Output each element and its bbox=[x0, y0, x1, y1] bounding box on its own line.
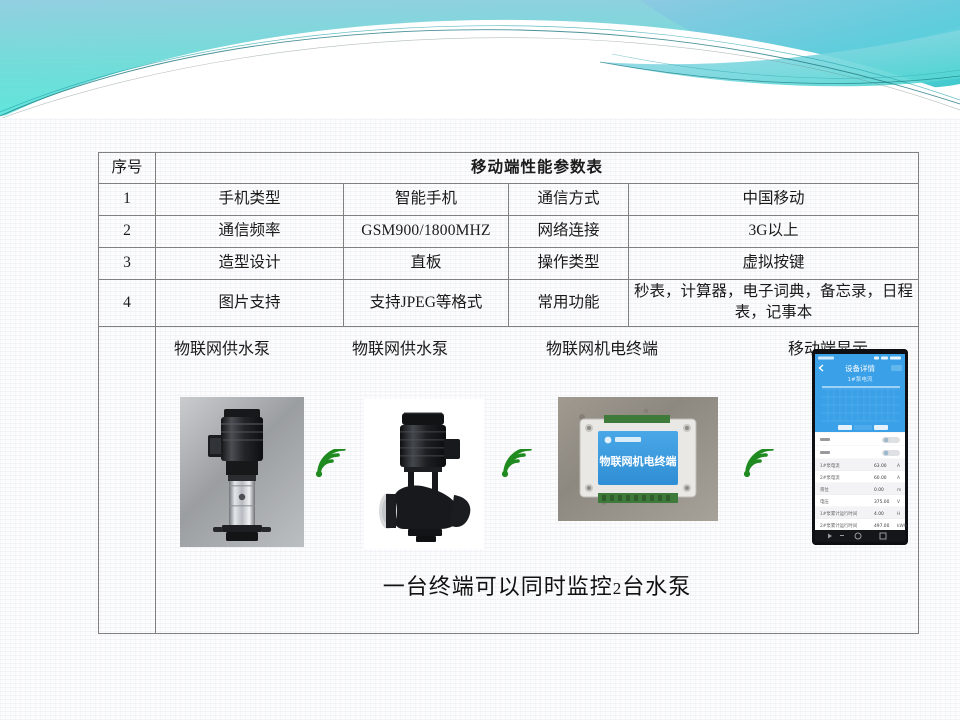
table-row: 4 图片支持 支持JPEG等格式 常用功能 秒表，计算器，电子词典，备忘录，日程… bbox=[99, 280, 919, 327]
svg-text:1#泵累计运行时间: 1#泵累计运行时间 bbox=[820, 510, 857, 517]
photo-vertical-pump bbox=[180, 397, 304, 547]
row-key-1: 手机类型 bbox=[156, 184, 344, 216]
illustration-spacer-cell bbox=[99, 327, 156, 634]
table-row: 2 通信频率 GSM900/1800MHZ 网络连接 3G以上 bbox=[99, 216, 919, 248]
row-value-1: 直板 bbox=[344, 248, 509, 280]
row-value-2: 中国移动 bbox=[629, 184, 919, 216]
svg-text:375.00: 375.00 bbox=[874, 499, 890, 505]
row-key-1: 通信频率 bbox=[156, 216, 344, 248]
caption-pump-2: 物联网供水泵 bbox=[352, 339, 448, 361]
row-key-2: 操作类型 bbox=[509, 248, 629, 280]
illustration-cell: 物联网供水泵 物联网供水泵 物联网机电终端 移动端显示 bbox=[156, 327, 919, 634]
row-key-1: 图片支持 bbox=[156, 280, 344, 327]
svg-text:2#泵累计运行时间: 2#泵累计运行时间 bbox=[820, 522, 857, 529]
phone-title-text: 设备详情 bbox=[845, 363, 875, 373]
header-index-label: 序号 bbox=[99, 153, 156, 184]
svg-text:V: V bbox=[897, 499, 900, 505]
svg-text:0.00: 0.00 bbox=[874, 487, 884, 493]
bottom-caption-number: 2 bbox=[613, 579, 623, 598]
row-key-1: 造型设计 bbox=[156, 248, 344, 280]
phone-chart-label-text: 1#泵电流 bbox=[847, 375, 872, 383]
back-icon bbox=[840, 535, 844, 536]
illustration-canvas: 物联网供水泵 物联网供水泵 物联网机电终端 移动端显示 bbox=[160, 329, 914, 631]
svg-text:4.00: 4.00 bbox=[874, 511, 884, 517]
row-value-2: 虚拟按键 bbox=[629, 248, 919, 280]
svg-text:1#泵电流: 1#泵电流 bbox=[820, 462, 840, 469]
photo-inline-pump bbox=[364, 399, 484, 549]
row-value-2: 3G以上 bbox=[629, 216, 919, 248]
svg-text:电压: 电压 bbox=[820, 498, 829, 505]
iot-terminal-drawing: 物联网机电终端 bbox=[558, 397, 718, 521]
vertical-pump-drawing bbox=[180, 397, 304, 547]
caption-pump-1: 物联网供水泵 bbox=[174, 339, 270, 361]
decorative-header-band bbox=[0, 0, 960, 118]
row-number: 4 bbox=[99, 280, 156, 327]
mobile-spec-table: 序号 移动端性能参数表 1 手机类型 智能手机 通信方式 中国移动 2 通信频率… bbox=[98, 152, 919, 634]
bottom-caption-pre: 一台终端可以同时监控 bbox=[383, 574, 613, 599]
table-header-row: 序号 移动端性能参数表 bbox=[99, 153, 919, 184]
row-number: 3 bbox=[99, 248, 156, 280]
table-title: 移动端性能参数表 bbox=[156, 153, 919, 184]
row-key-2: 常用功能 bbox=[509, 280, 629, 327]
svg-text:60.00: 60.00 bbox=[874, 475, 887, 481]
svg-text:H: H bbox=[897, 511, 900, 517]
svg-text:2#泵电流: 2#泵电流 bbox=[820, 474, 840, 481]
bottom-caption-post: 台水泵 bbox=[622, 574, 691, 599]
wifi-signal-icon bbox=[312, 449, 346, 479]
row-number: 1 bbox=[99, 184, 156, 216]
terminal-label-text: 物联网机电终端 bbox=[600, 454, 677, 468]
row-number: 2 bbox=[99, 216, 156, 248]
illustration-row: 物联网供水泵 物联网供水泵 物联网机电终端 移动端显示 bbox=[99, 327, 919, 634]
table-row: 3 造型设计 直板 操作类型 虚拟按键 bbox=[99, 248, 919, 280]
phone-screenshot-drawing: 设备详情 1#泵电流 bbox=[812, 349, 908, 545]
photo-mobile-phone: 设备详情 1#泵电流 bbox=[812, 349, 908, 545]
photo-iot-terminal: 物联网机电终端 bbox=[558, 397, 718, 521]
caption-terminal: 物联网机电终端 bbox=[546, 339, 658, 361]
table-row: 1 手机类型 智能手机 通信方式 中国移动 bbox=[99, 184, 919, 216]
wifi-signal-icon bbox=[740, 449, 774, 479]
svg-text:63.00: 63.00 bbox=[874, 463, 887, 469]
svg-text:497.00: 497.00 bbox=[874, 523, 890, 529]
bottom-caption: 一台终端可以同时监控2台水泵 bbox=[160, 572, 914, 602]
row-key-2: 通信方式 bbox=[509, 184, 629, 216]
wifi-signal-icon bbox=[498, 449, 532, 479]
row-value-1: GSM900/1800MHZ bbox=[344, 216, 509, 248]
svg-text:A: A bbox=[897, 475, 900, 481]
svg-text:m: m bbox=[897, 488, 901, 493]
header-wave-graphic bbox=[0, 0, 960, 118]
row-key-2: 网络连接 bbox=[509, 216, 629, 248]
svg-text:A: A bbox=[897, 463, 900, 469]
row-value-2: 秒表，计算器，电子词典，备忘录，日程表，记事本 bbox=[629, 280, 919, 327]
inline-pump-drawing bbox=[364, 399, 484, 549]
svg-text:kWh: kWh bbox=[897, 523, 907, 529]
row-value-1: 智能手机 bbox=[344, 184, 509, 216]
row-value-1: 支持JPEG等格式 bbox=[344, 280, 509, 327]
svg-text:液位: 液位 bbox=[820, 486, 829, 493]
